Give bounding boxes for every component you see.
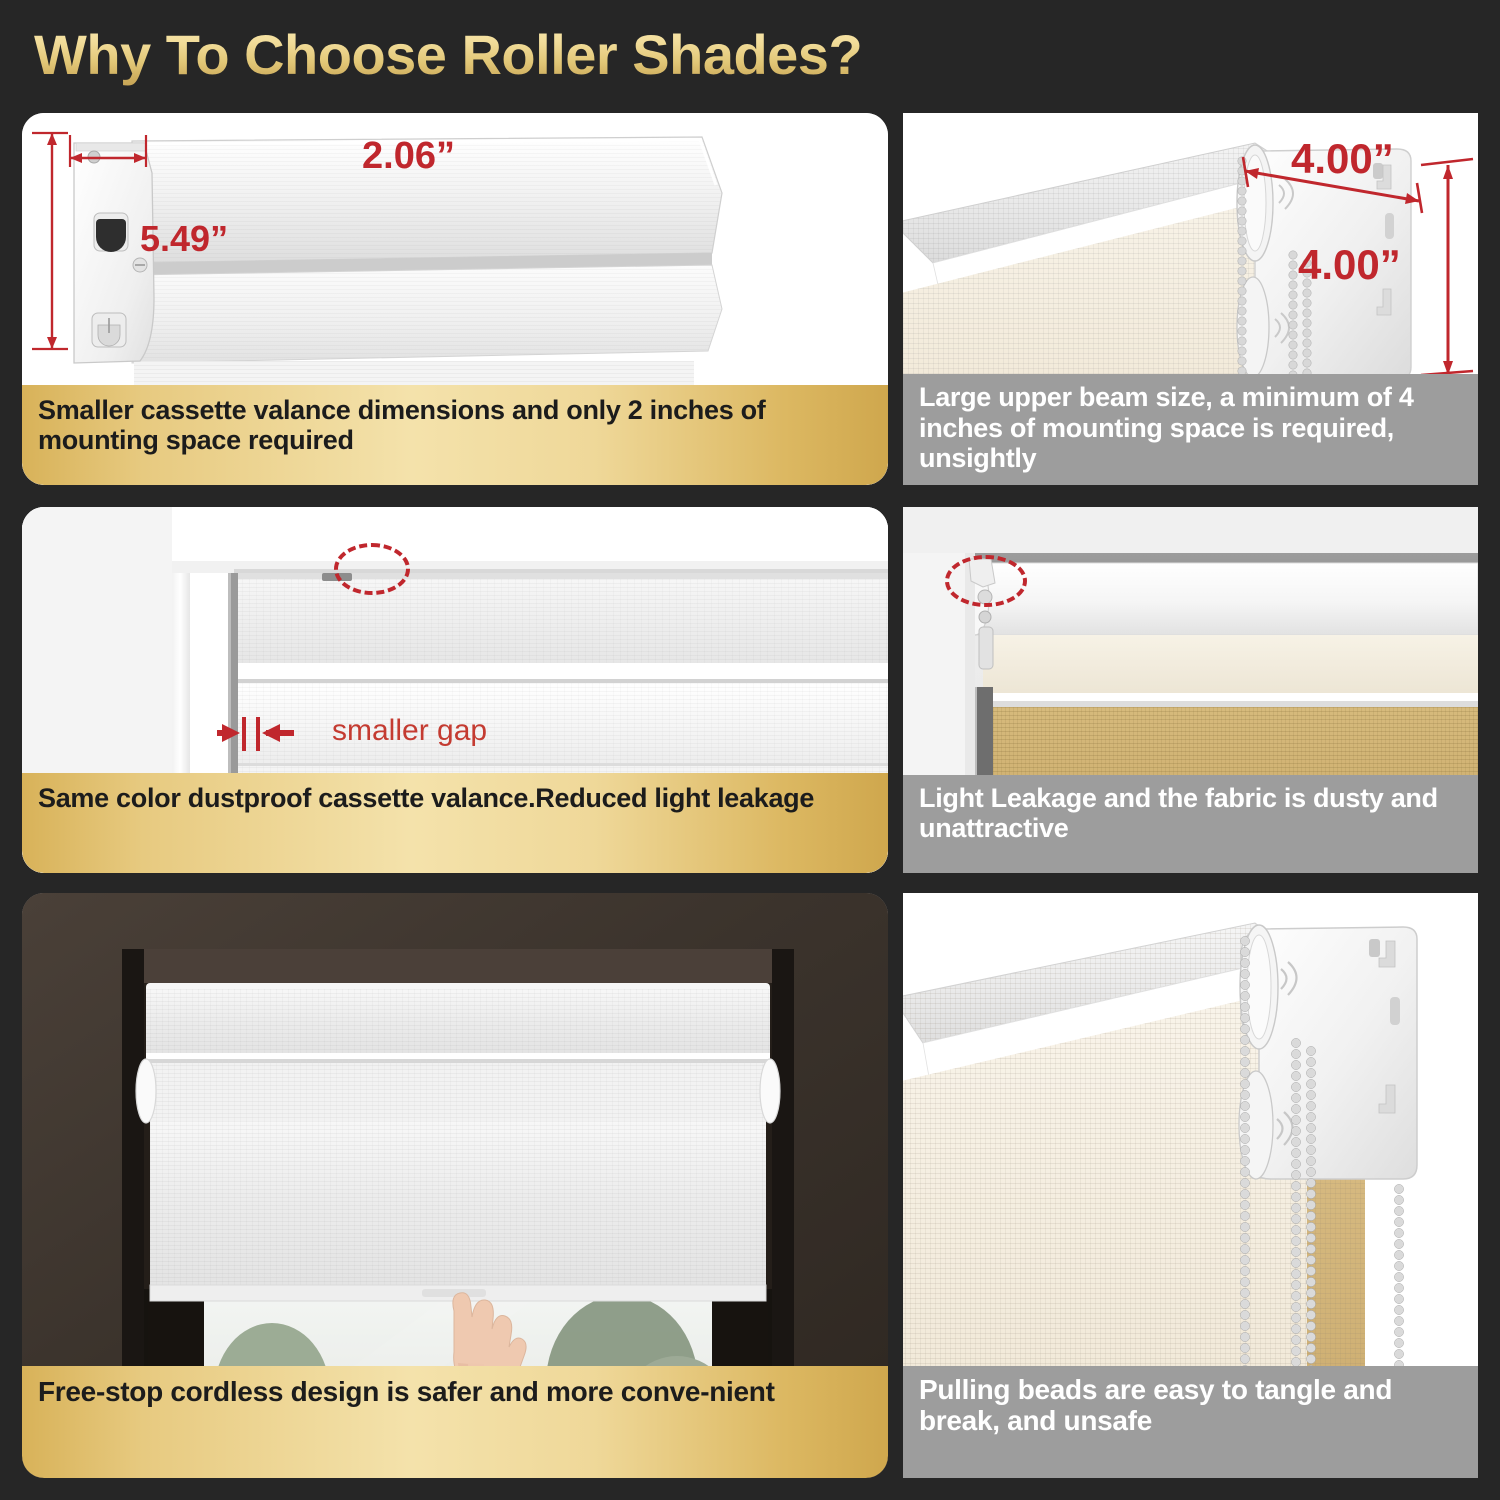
dashed-circle-callout <box>334 543 410 595</box>
panel-free-stop-cordless: Free-stop cordless design is safer and m… <box>22 893 888 1478</box>
caption-smaller-cassette-valance: Smaller cassette valance dimensions and … <box>22 385 888 485</box>
panel-light-leakage: Large gap Light Leakage and the fabric i… <box>903 507 1478 873</box>
caption-dustproof-cassette-valance: Same color dustproof cassette valance.Re… <box>22 773 888 873</box>
panel-pulling-beads: Pulling beads are easy to tangle and bre… <box>903 893 1478 1478</box>
panel-smaller-cassette-valance: 2.06” 5.49” Smaller cassette valance dim… <box>22 113 888 485</box>
beam-height-dimension-label: 4.00” <box>1298 241 1401 289</box>
infographic-root: Why To Choose Roller Shades? <box>0 0 1500 1500</box>
smaller-gap-label: smaller gap <box>332 714 487 748</box>
height-dimension-label: 5.49” <box>140 218 228 260</box>
beam-width-dimension-label: 4.00” <box>1291 135 1394 183</box>
comparison-grid: 2.06” 5.49” Smaller cassette valance dim… <box>0 0 1500 1500</box>
caption-light-leakage: Light Leakage and the fabric is dusty an… <box>903 775 1478 873</box>
panel-dustproof-cassette-valance: smaller gap Same color dustproof cassett… <box>22 507 888 873</box>
dashed-ellipse-callout <box>945 555 1027 607</box>
caption-free-stop-cordless: Free-stop cordless design is safer and m… <box>22 1366 888 1478</box>
caption-pulling-beads: Pulling beads are easy to tangle and bre… <box>903 1366 1478 1478</box>
width-dimension-label: 2.06” <box>362 135 455 178</box>
panel-large-upper-beam: 4.00” 4.00” Large upper beam size, a min… <box>903 113 1478 485</box>
caption-large-upper-beam: Large upper beam size, a minimum of 4 in… <box>903 374 1478 485</box>
